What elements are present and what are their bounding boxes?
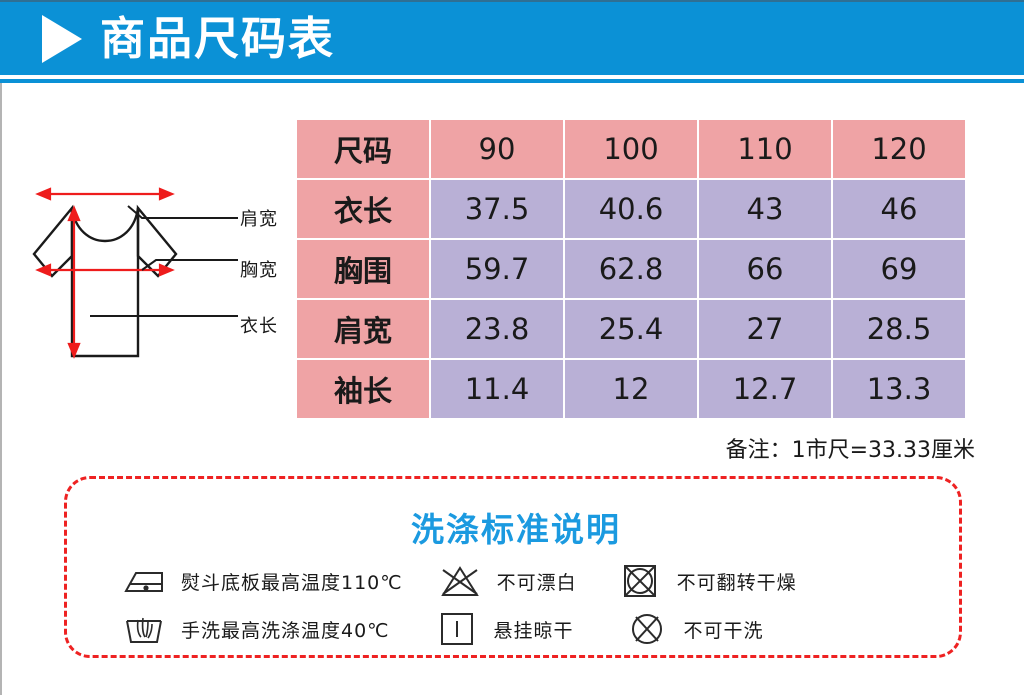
do-not-dry-clean-icon [624,612,670,646]
cell-yichang-120: 46 [833,180,965,238]
cell-xiongwei-90: 59.7 [431,240,563,298]
cell-xiongwei-100: 62.8 [565,240,697,298]
cell-jiankuan-110: 27 [699,300,831,358]
do-not-bleach-icon [437,564,483,598]
diagram-label-length: 衣长 [240,312,278,338]
care-text-no-tumble-dry: 不可翻转干燥 [677,568,797,595]
care-rows: 熨斗底板最高温度110℃ 不可漂白 [67,557,965,653]
care-text-no-bleach: 不可漂白 [497,568,577,595]
table-row: 肩宽 23.8 25.4 27 28.5 [297,300,965,358]
care-instructions-box: 洗涤标准说明 熨斗底板最高温度110℃ [64,476,962,658]
table-header-cell-120: 120 [833,120,965,178]
page-title: 商品尺码表 [100,16,335,61]
header-bottom-rule [0,79,1024,83]
table-header-cell-100: 100 [565,120,697,178]
cell-xiuchang-120: 13.3 [833,360,965,418]
care-row: 手洗最高洗涤温度40℃ 悬挂晾干 [67,605,965,653]
care-item-no-tumble-dry: 不可翻转干燥 [617,564,797,598]
diagram-label-chest: 胸宽 [240,256,278,282]
diagram-label-shoulder: 肩宽 [240,205,278,231]
cell-xiongwei-120: 69 [833,240,965,298]
cell-xiuchang-90: 11.4 [431,360,563,418]
cell-xiuchang-110: 12.7 [699,360,831,418]
page-header: 商品尺码表 [0,2,1024,75]
table-header-cell-90: 90 [431,120,563,178]
table-row: 衣长 37.5 40.6 43 46 [297,180,965,238]
size-chart-page: 商品尺码表 [0,0,1024,695]
row-label-xiongwei: 胸围 [297,240,429,298]
row-label-yichang: 衣长 [297,180,429,238]
cell-jiankuan-100: 25.4 [565,300,697,358]
line-dry-icon [434,612,480,646]
cell-yichang-90: 37.5 [431,180,563,238]
care-item-line-dry: 悬挂晾干 [434,612,574,646]
care-item-no-bleach: 不可漂白 [437,564,577,598]
cell-jiankuan-120: 28.5 [833,300,965,358]
play-triangle-icon [42,15,82,63]
care-text-hand-wash: 手洗最高洗涤温度40℃ [181,616,390,643]
size-table: 尺码 90 100 110 120 衣长 37.5 40.6 43 46 胸围 … [295,118,967,420]
table-header-row: 尺码 90 100 110 120 [297,120,965,178]
care-text-iron: 熨斗底板最高温度110℃ [181,568,403,595]
care-text-no-dry-clean: 不可干洗 [684,616,764,643]
table-header-cell-110: 110 [699,120,831,178]
cell-xiongwei-110: 66 [699,240,831,298]
care-text-line-dry: 悬挂晾干 [494,616,574,643]
cell-xiuchang-100: 12 [565,360,697,418]
table-row: 袖长 11.4 12 12.7 13.3 [297,360,965,418]
care-item-hand-wash: 手洗最高洗涤温度40℃ [121,612,390,646]
hand-wash-icon [121,612,167,646]
care-item-no-dry-clean: 不可干洗 [624,612,764,646]
table-row: 胸围 59.7 62.8 66 69 [297,240,965,298]
page-left-border [0,83,2,695]
row-label-jiankuan: 肩宽 [297,300,429,358]
cell-jiankuan-90: 23.8 [431,300,563,358]
do-not-tumble-dry-icon [617,564,663,598]
leader-line-chest [142,260,238,270]
cell-yichang-100: 40.6 [565,180,697,238]
table-header-cell-size: 尺码 [297,120,429,178]
row-label-xiuchang: 袖长 [297,360,429,418]
care-row: 熨斗底板最高温度110℃ 不可漂白 [67,557,965,605]
iron-one-dot-icon [121,564,167,598]
cell-yichang-110: 43 [699,180,831,238]
care-item-iron: 熨斗底板最高温度110℃ [121,564,403,598]
care-title: 洗涤标准说明 [67,503,965,551]
table-note: 备注：1市尺=33.33厘米 [600,432,975,464]
